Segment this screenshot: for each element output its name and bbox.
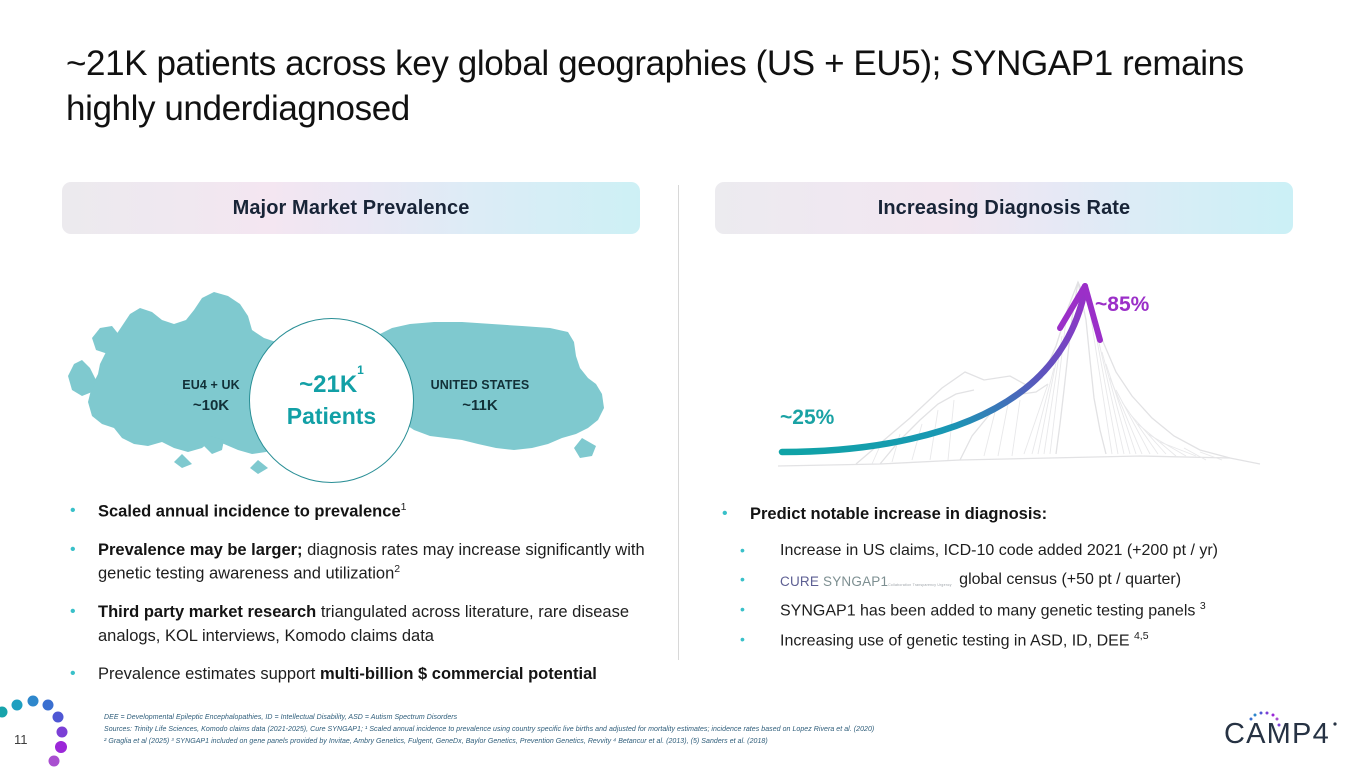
patients-count: ~21K1: [299, 373, 364, 397]
bullet-lead-plain: Prevalence estimates support: [98, 665, 320, 683]
mountain-hatching: [872, 312, 1222, 464]
bullet-bold-lead: Predict notable increase in diagnosis:: [750, 505, 1047, 523]
bullet-text: Prevalence estimates support multi-billi…: [98, 663, 646, 686]
left-banner-title: Major Market Prevalence: [62, 182, 640, 234]
diagnosis-rate-end-label: ~85%: [1095, 293, 1149, 317]
patients-label: Patients: [287, 405, 376, 428]
footnote-line-1: DEE = Developmental Epileptic Encephalop…: [104, 712, 1214, 724]
bullet-footnote-marker: 2: [394, 563, 400, 575]
right-banner-title: Increasing Diagnosis Rate: [715, 182, 1293, 234]
sub-bullet-text: CURE SYNGAP1Collaboration Transparency U…: [780, 570, 1328, 592]
bullet-bold-lead: Third party market research: [98, 603, 316, 621]
eu-label-caption: EU4 + UK: [166, 378, 256, 394]
sub-bullet-text: Increasing use of genetic testing in ASD…: [780, 630, 1328, 652]
sub-bullet-text: SYNGAP1 has been added to many genetic t…: [780, 600, 1328, 622]
list-item: • Increasing use of genetic testing in A…: [718, 630, 1328, 652]
mountain-sketch-icon: [778, 282, 1260, 466]
list-item: • Increase in US claims, ICD-10 code add…: [718, 541, 1328, 561]
bullet-dot-icon: •: [718, 630, 780, 650]
dot-arc-decoration-icon: [0, 690, 86, 768]
bullet-dot-icon: •: [718, 541, 780, 561]
bullet-bold-lead: Prevalence may be larger;: [98, 541, 303, 559]
patients-count-footnote-marker: 1: [357, 363, 364, 377]
camp4-logo-wordmark: CAMP4: [1224, 718, 1330, 749]
eu-map-label: EU4 + UK ~10K: [166, 378, 256, 414]
bullet-footnote-marker: 1: [401, 501, 407, 513]
left-bullet-list: • Scaled annual incidence to prevalence1…: [66, 500, 646, 702]
logo-tagline: Collaboration Transparency Urgency: [888, 583, 952, 587]
camp4-logo-registered-dot: [1333, 722, 1336, 725]
bullet-dot-icon: •: [66, 663, 98, 685]
us-label-caption: UNITED STATES: [425, 378, 535, 394]
sub-bullet-footnote-marker: 3: [1200, 600, 1206, 612]
slide-root: ~21K patients across key global geograph…: [0, 0, 1365, 768]
cure-word: CURE: [780, 574, 819, 589]
bullet-text: Prevalence may be larger; diagnosis rate…: [98, 539, 646, 586]
footnote-line-2: Sources: Trinity Life Sciences, Komodo c…: [104, 724, 1214, 736]
mountain-arrow-svg: [760, 268, 1280, 483]
list-item: • Third party market research triangulat…: [66, 601, 646, 648]
sub-bullet-list: • Increase in US claims, ICD-10 code add…: [718, 541, 1328, 652]
diagnosis-rate-chart: [760, 268, 1280, 483]
cure-syngap1-logo-wordmark: CURE SYNGAP1: [780, 574, 888, 589]
bullet-text: Scaled annual incidence to prevalence1: [98, 500, 646, 524]
camp4-logo: CAMP4: [1222, 707, 1342, 749]
page-title: ~21K patients across key global geograph…: [66, 42, 1246, 132]
bullet-dot-icon: •: [718, 503, 750, 525]
us-label-value: ~11K: [425, 398, 535, 415]
left-panel: Major Market Prevalence: [62, 182, 640, 234]
list-item: • Prevalence may be larger; diagnosis ra…: [66, 539, 646, 586]
right-panel: Increasing Diagnosis Rate: [715, 182, 1293, 234]
bullet-bold-lead: Scaled annual incidence to prevalence: [98, 503, 401, 521]
sub-bullet-main: Increasing use of genetic testing in ASD…: [780, 632, 1130, 649]
eu-label-value: ~10K: [166, 398, 256, 415]
bullet-text: Predict notable increase in diagnosis:: [750, 503, 1328, 526]
footnotes-block: DEE = Developmental Epileptic Encephalop…: [104, 712, 1214, 748]
footnote-line-3: ² Graglia et al (2025) ³ SYNGAP1 include…: [104, 736, 1214, 748]
sub-bullet-footnote-marker: 4,5: [1134, 630, 1149, 642]
sub-bullet-main: SYNGAP1 has been added to many genetic t…: [780, 603, 1195, 620]
list-item: • Prevalence estimates support multi-bil…: [66, 663, 646, 686]
bullet-dot-icon: •: [718, 570, 780, 590]
list-item: • Predict notable increase in diagnosis:: [718, 503, 1328, 526]
cure-syngap1-logo: CURE SYNGAP1Collaboration Transparency U…: [780, 572, 952, 592]
bullet-dot-icon: •: [66, 500, 98, 522]
syngap1-word: SYNGAP1: [823, 574, 888, 589]
bullet-text: Third party market research triangulated…: [98, 601, 646, 648]
list-item: • CURE SYNGAP1Collaboration Transparency…: [718, 570, 1328, 592]
column-divider: [678, 185, 679, 660]
us-map-label: UNITED STATES ~11K: [425, 378, 535, 414]
sub-bullet-rest: global census (+50 pt / quarter): [955, 571, 1181, 588]
diagnosis-rate-start-label: ~25%: [780, 406, 834, 430]
bullet-bold-tail: multi-billion $ commercial potential: [320, 665, 597, 683]
bullet-dot-icon: •: [66, 601, 98, 623]
sub-bullet-text: Increase in US claims, ICD-10 code added…: [780, 541, 1328, 561]
bullet-dot-icon: •: [66, 539, 98, 561]
patients-circle-badge: ~21K1 Patients: [249, 318, 414, 483]
right-bullet-list: • Predict notable increase in diagnosis:…: [718, 503, 1328, 660]
bullet-dot-icon: •: [718, 600, 780, 620]
list-item: • SYNGAP1 has been added to many genetic…: [718, 600, 1328, 622]
list-item: • Scaled annual incidence to prevalence1: [66, 500, 646, 524]
